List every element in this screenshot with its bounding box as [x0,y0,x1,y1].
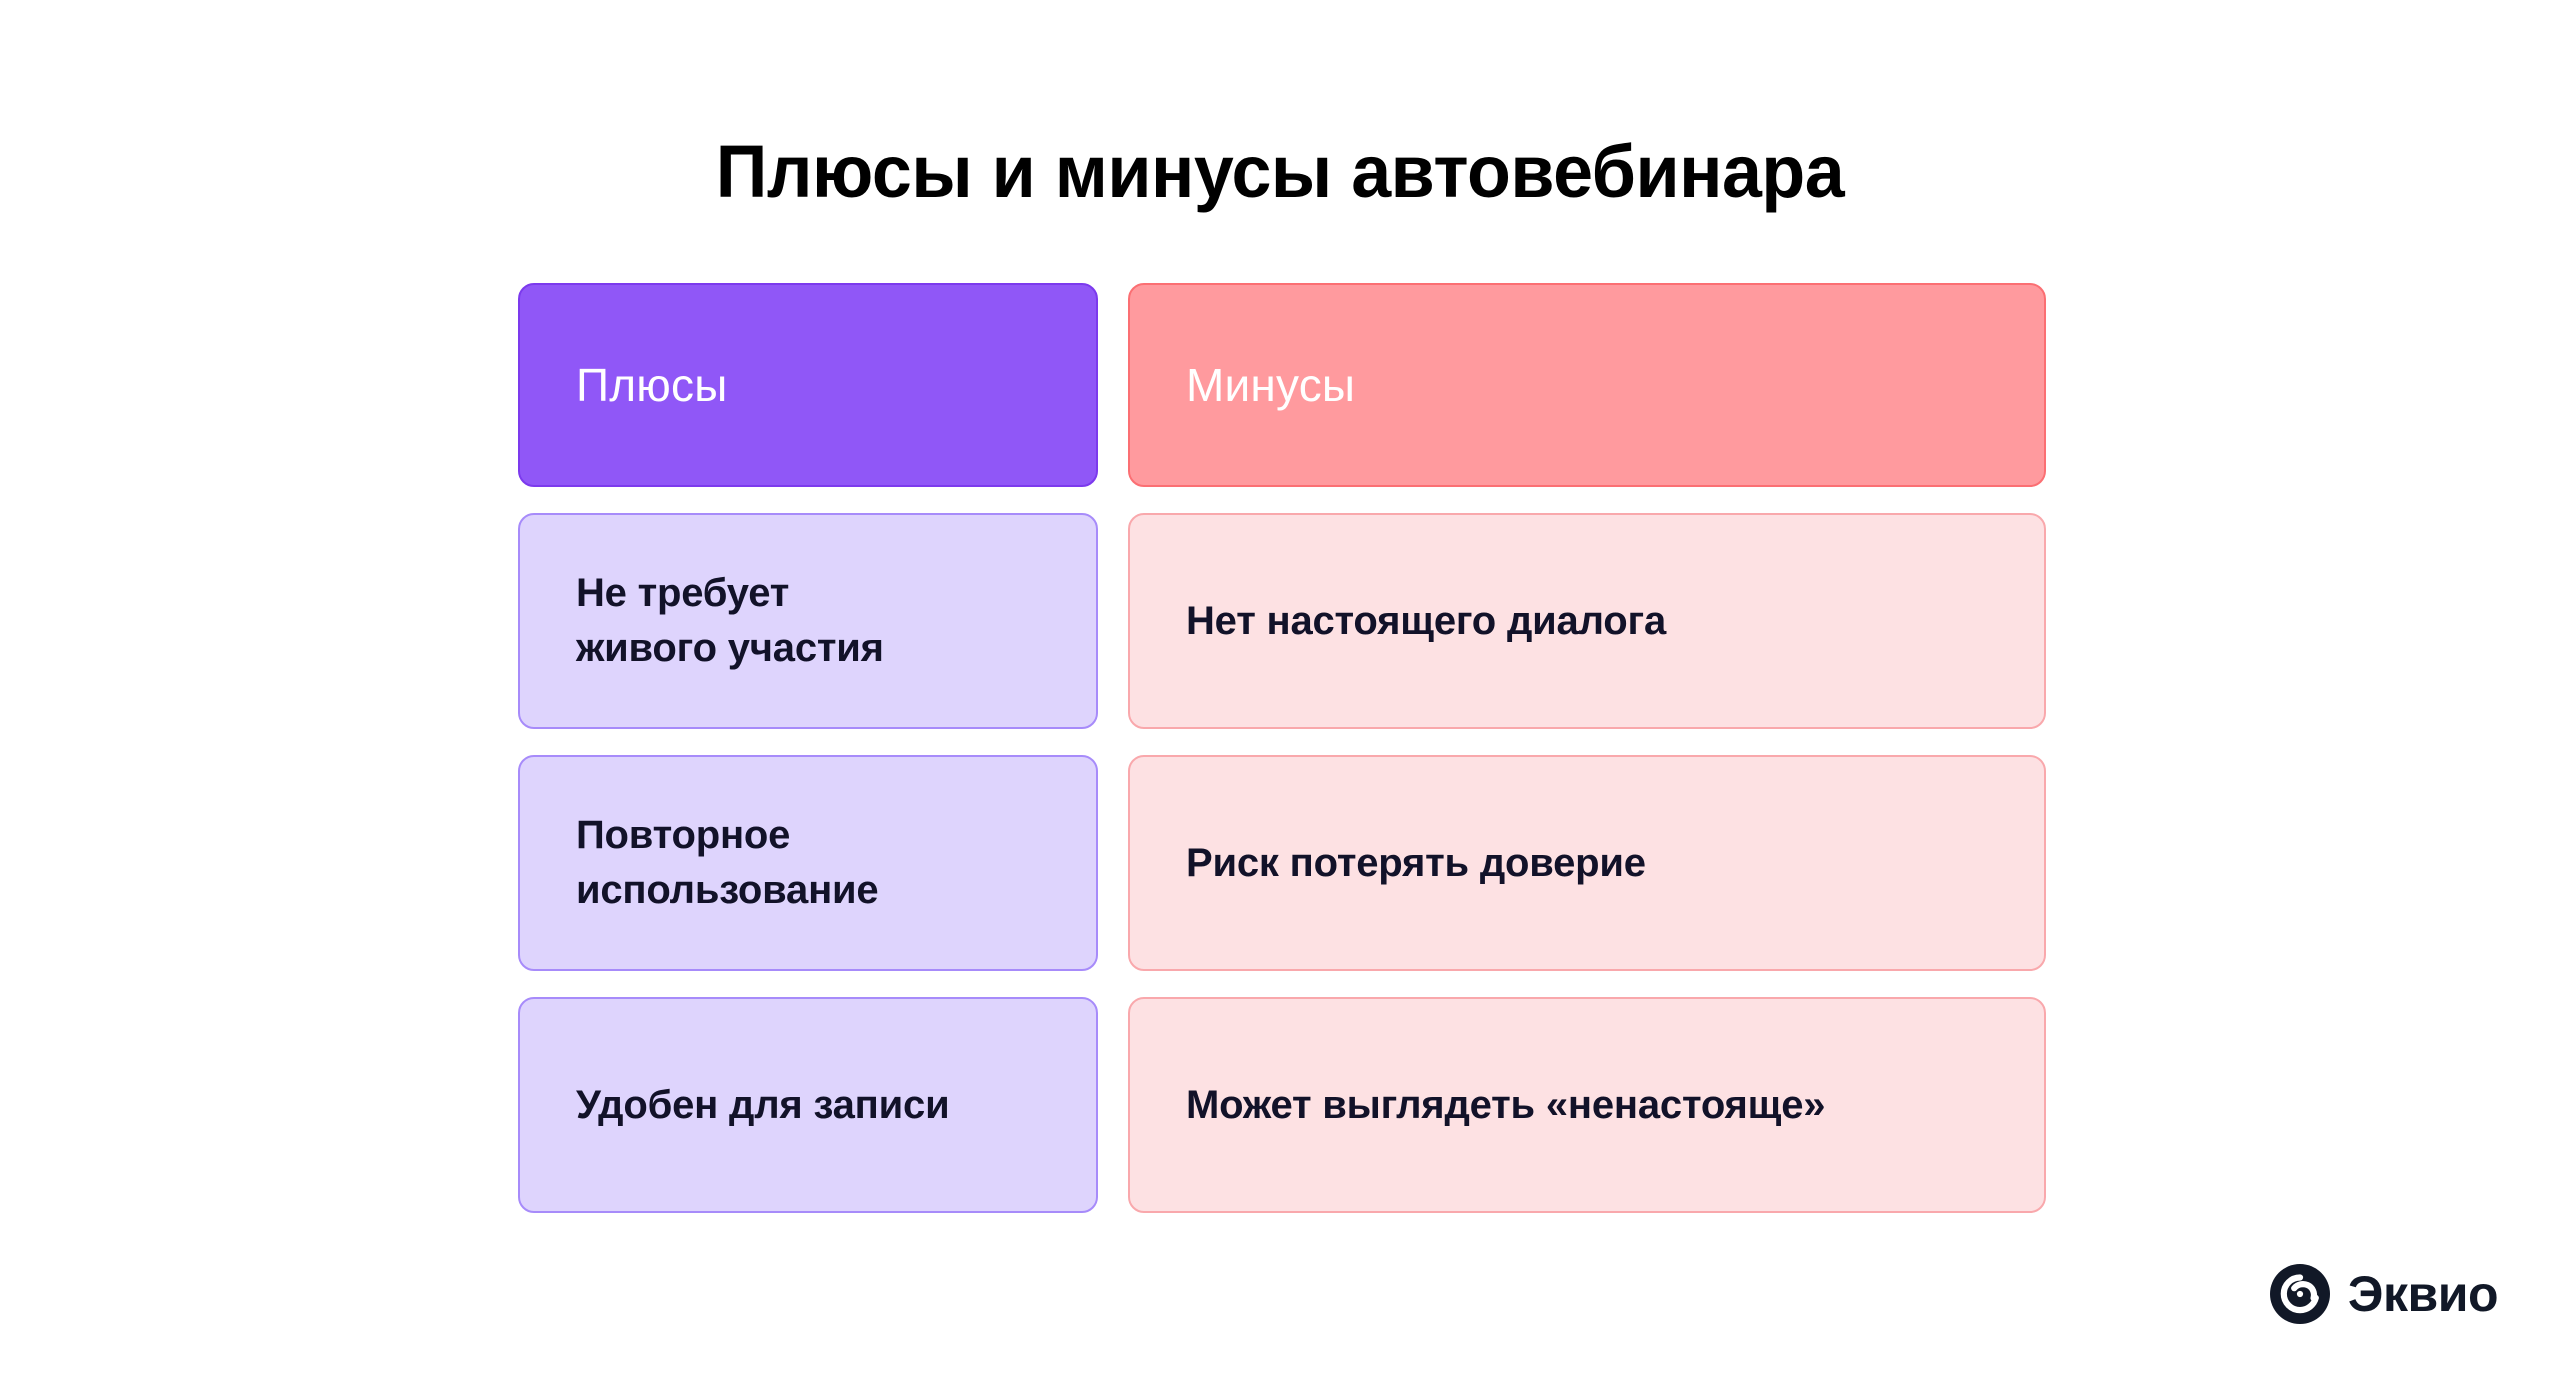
pros-item-label: Удобен для записи [576,1078,949,1133]
brand-name: Эквио [2348,1269,2498,1319]
page-title: Плюсы и минусы автовебинара [38,128,2521,216]
pros-item-card: Повторное использование [518,755,1098,971]
cons-item-label: Риск потерять доверие [1186,836,1646,891]
brand-logo: Эквио [2270,1264,2498,1324]
cons-item-card: Нет настоящего диалога [1128,513,2046,729]
pros-item-card: Удобен для записи [518,997,1098,1213]
pros-item-label: Повторное использование [576,808,878,918]
cons-item-card: Может выглядеть «ненастояще» [1128,997,2046,1213]
pros-header-card: Плюсы [518,283,1098,487]
cons-header-card: Минусы [1128,283,2046,487]
cons-item-label: Может выглядеть «ненастояще» [1186,1078,1825,1133]
slide-root: Плюсы и минусы автовебинара Плюсы Минусы… [0,0,2560,1382]
cons-item-label: Нет настоящего диалога [1186,594,1666,649]
pros-item-card: Не требует живого участия [518,513,1098,729]
cons-header-label: Минусы [1186,357,1355,413]
cons-item-card: Риск потерять доверие [1128,755,2046,971]
pros-header-label: Плюсы [576,357,727,413]
pros-cons-grid: Плюсы Минусы Не требует живого участия Н… [518,283,2046,1213]
equio-circle-swirl-icon [2270,1264,2330,1324]
pros-item-label: Не требует живого участия [576,566,884,676]
